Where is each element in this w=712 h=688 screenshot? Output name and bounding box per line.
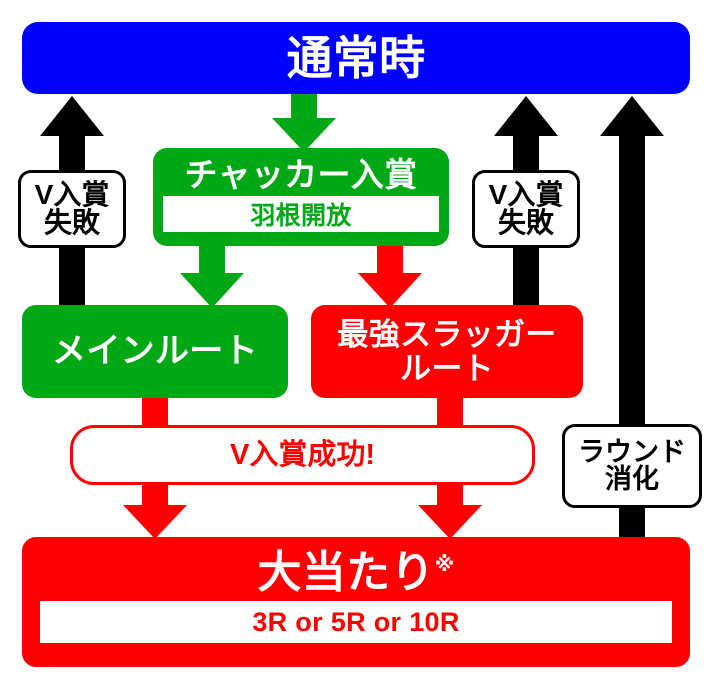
node-chucker-win-sub: 羽根開放	[163, 196, 439, 232]
node-slugger-route[interactable]: 最強スラッガー ルート	[311, 305, 583, 398]
flowchart-diagram: 通常時 チャッカー入賞 羽根開放 メインルート 最強スラッガー ルート 大当たり…	[0, 0, 712, 688]
arrow-chucker-to-main	[180, 245, 244, 308]
node-jackpot[interactable]: 大当たり ※ 3R or 5R or 10R	[22, 537, 690, 667]
node-chucker-win[interactable]: チャッカー入賞 羽根開放	[153, 148, 449, 246]
badge-v-fail-left-line2: 失敗	[44, 209, 100, 237]
node-main-route[interactable]: メインルート	[22, 305, 288, 398]
node-main-route-label: メインルート	[52, 334, 258, 369]
node-jackpot-main-label: 大当たり	[257, 551, 434, 596]
badge-round-clear-line2: 消化	[605, 466, 659, 493]
arrow-normal-to-chucker	[272, 92, 336, 152]
badge-round-clear[interactable]: ラウンド 消化	[562, 424, 702, 508]
node-jackpot-rounds: 3R or 5R or 10R	[40, 601, 672, 643]
badge-round-clear-line1: ラウンド	[578, 439, 686, 466]
node-jackpot-rounds-label: 3R or 5R or 10R	[252, 607, 459, 638]
badge-v-success[interactable]: V入賞成功!	[70, 425, 535, 485]
node-normal-state[interactable]: 通常時	[22, 22, 690, 94]
badge-v-fail-left-line1: V入賞	[35, 181, 110, 209]
badge-v-fail-right[interactable]: V入賞 失敗	[472, 170, 580, 248]
node-jackpot-asterisk-mark: ※	[435, 555, 455, 575]
node-slugger-route-label: 最強スラッガー ルート	[337, 318, 556, 385]
badge-v-fail-left[interactable]: V入賞 失敗	[18, 170, 126, 248]
node-jackpot-label: 大当たり ※	[257, 551, 454, 596]
node-chucker-win-sub-label: 羽根開放	[250, 196, 351, 232]
node-normal-state-label: 通常時	[287, 35, 426, 82]
badge-v-fail-right-line2: 失敗	[498, 209, 554, 237]
badge-v-success-label: V入賞成功!	[230, 441, 375, 470]
node-chucker-win-label: チャッカー入賞	[185, 158, 418, 192]
badge-v-fail-right-line1: V入賞	[489, 181, 564, 209]
arrow-chucker-to-slugger	[358, 245, 422, 308]
